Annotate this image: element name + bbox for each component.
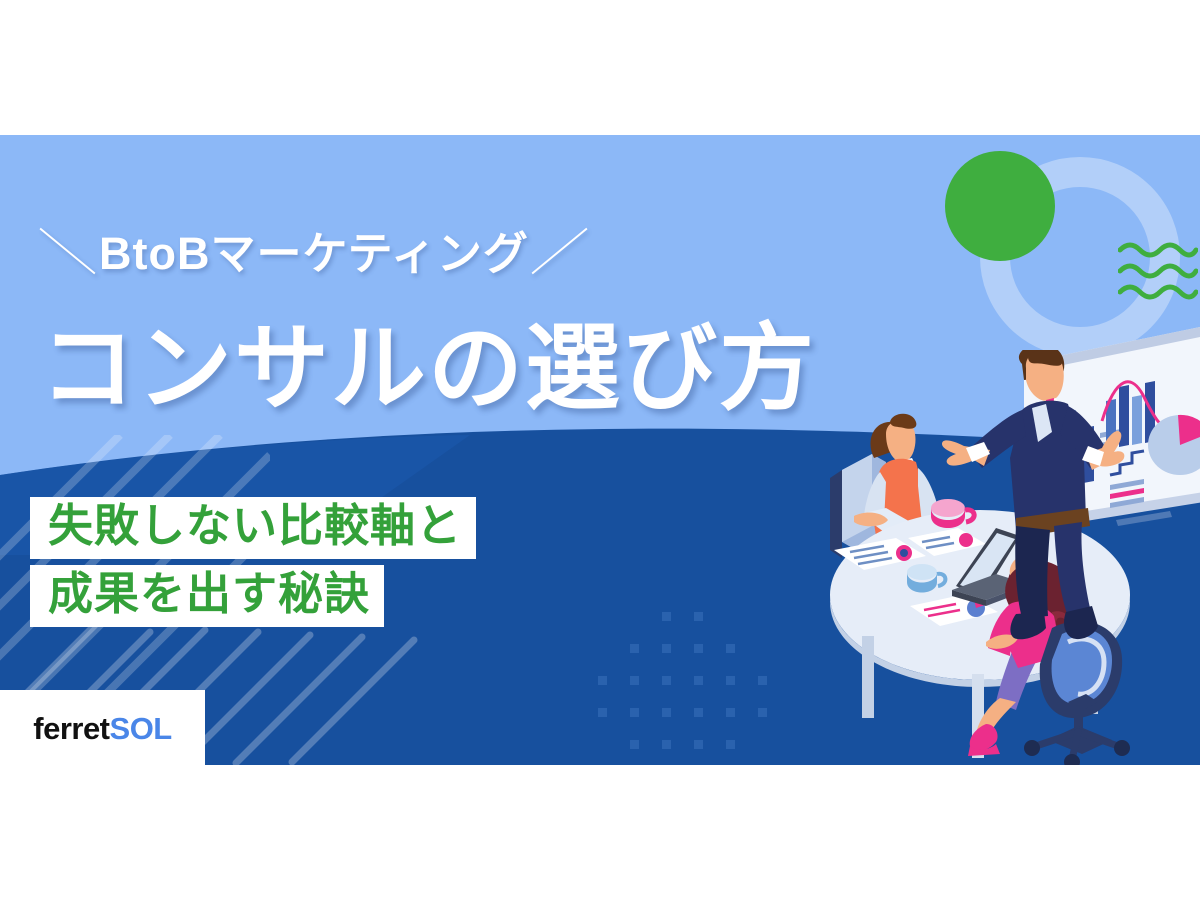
logo-primary: ferret xyxy=(33,711,109,746)
eyebrow-label: BtoBマーケティング xyxy=(99,217,529,282)
green-circle-decoration xyxy=(945,151,1055,261)
wave-lines-icon xyxy=(1118,240,1198,302)
page-title: コンサルの選び方 xyxy=(40,320,816,420)
subtitle-line-1: 失敗しない比較軸と xyxy=(30,497,476,559)
logo-secondary: SOL xyxy=(110,711,172,746)
logo[interactable]: ferretSOL xyxy=(0,690,205,765)
text-column: ＼ BtoBマーケティング ／ コンサルの選び方 失敗しない比較軸と 成果を出す… xyxy=(0,135,700,765)
slash-right-icon: ／ xyxy=(527,213,593,285)
banner: ＼ BtoBマーケティング ／ コンサルの選び方 失敗しない比較軸と 成果を出す… xyxy=(0,135,1200,765)
isometric-business-meeting xyxy=(800,350,1200,765)
slash-left-icon: ＼ xyxy=(34,213,100,285)
logo-wordmark: ferretSOL xyxy=(33,711,172,747)
eyebrow-text: ＼ BtoBマーケティング ／ xyxy=(42,213,586,285)
subtitle-line-2: 成果を出す秘訣 xyxy=(30,565,384,627)
